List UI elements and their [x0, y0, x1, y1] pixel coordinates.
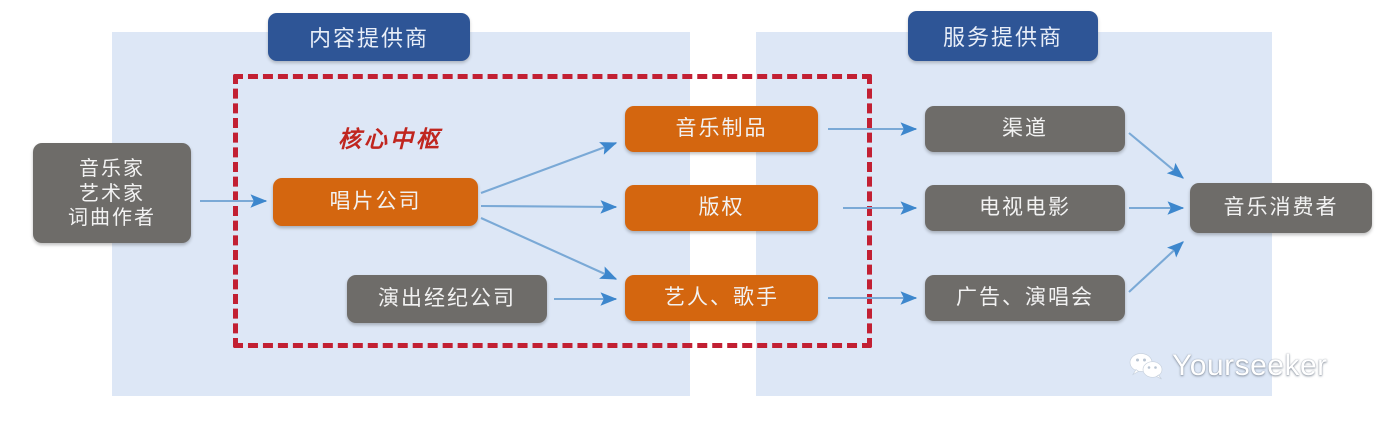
wechat-icon [1128, 351, 1164, 381]
node-channel: 渠道 [925, 106, 1125, 152]
node-copyright: 版权 [625, 185, 818, 231]
node-ads-concerts: 广告、演唱会 [925, 275, 1125, 321]
node-record-company: 唱片公司 [273, 178, 478, 226]
node-music-consumers: 音乐消费者 [1190, 183, 1372, 233]
diagram-canvas: 内容提供商 服务提供商 核心中枢 音乐家 艺术家 词曲作者 唱片公司 演出经纪公… [0, 0, 1397, 427]
node-music-products: 音乐制品 [625, 106, 818, 152]
header-content-provider: 内容提供商 [268, 13, 470, 61]
node-artists-singers: 艺人、歌手 [625, 275, 818, 321]
node-performance-agency: 演出经纪公司 [347, 275, 547, 323]
node-creators: 音乐家 艺术家 词曲作者 [33, 143, 191, 243]
node-tv-film: 电视电影 [925, 185, 1125, 231]
node-creators-line-3: 词曲作者 [68, 205, 156, 229]
header-service-provider: 服务提供商 [908, 11, 1098, 61]
node-creators-line-2: 艺术家 [79, 181, 145, 205]
node-creators-line-1: 音乐家 [79, 156, 145, 180]
watermark-text: Yourseeker [1172, 349, 1328, 383]
core-hub-label: 核心中枢 [338, 120, 442, 154]
watermark: Yourseeker [1128, 349, 1328, 383]
